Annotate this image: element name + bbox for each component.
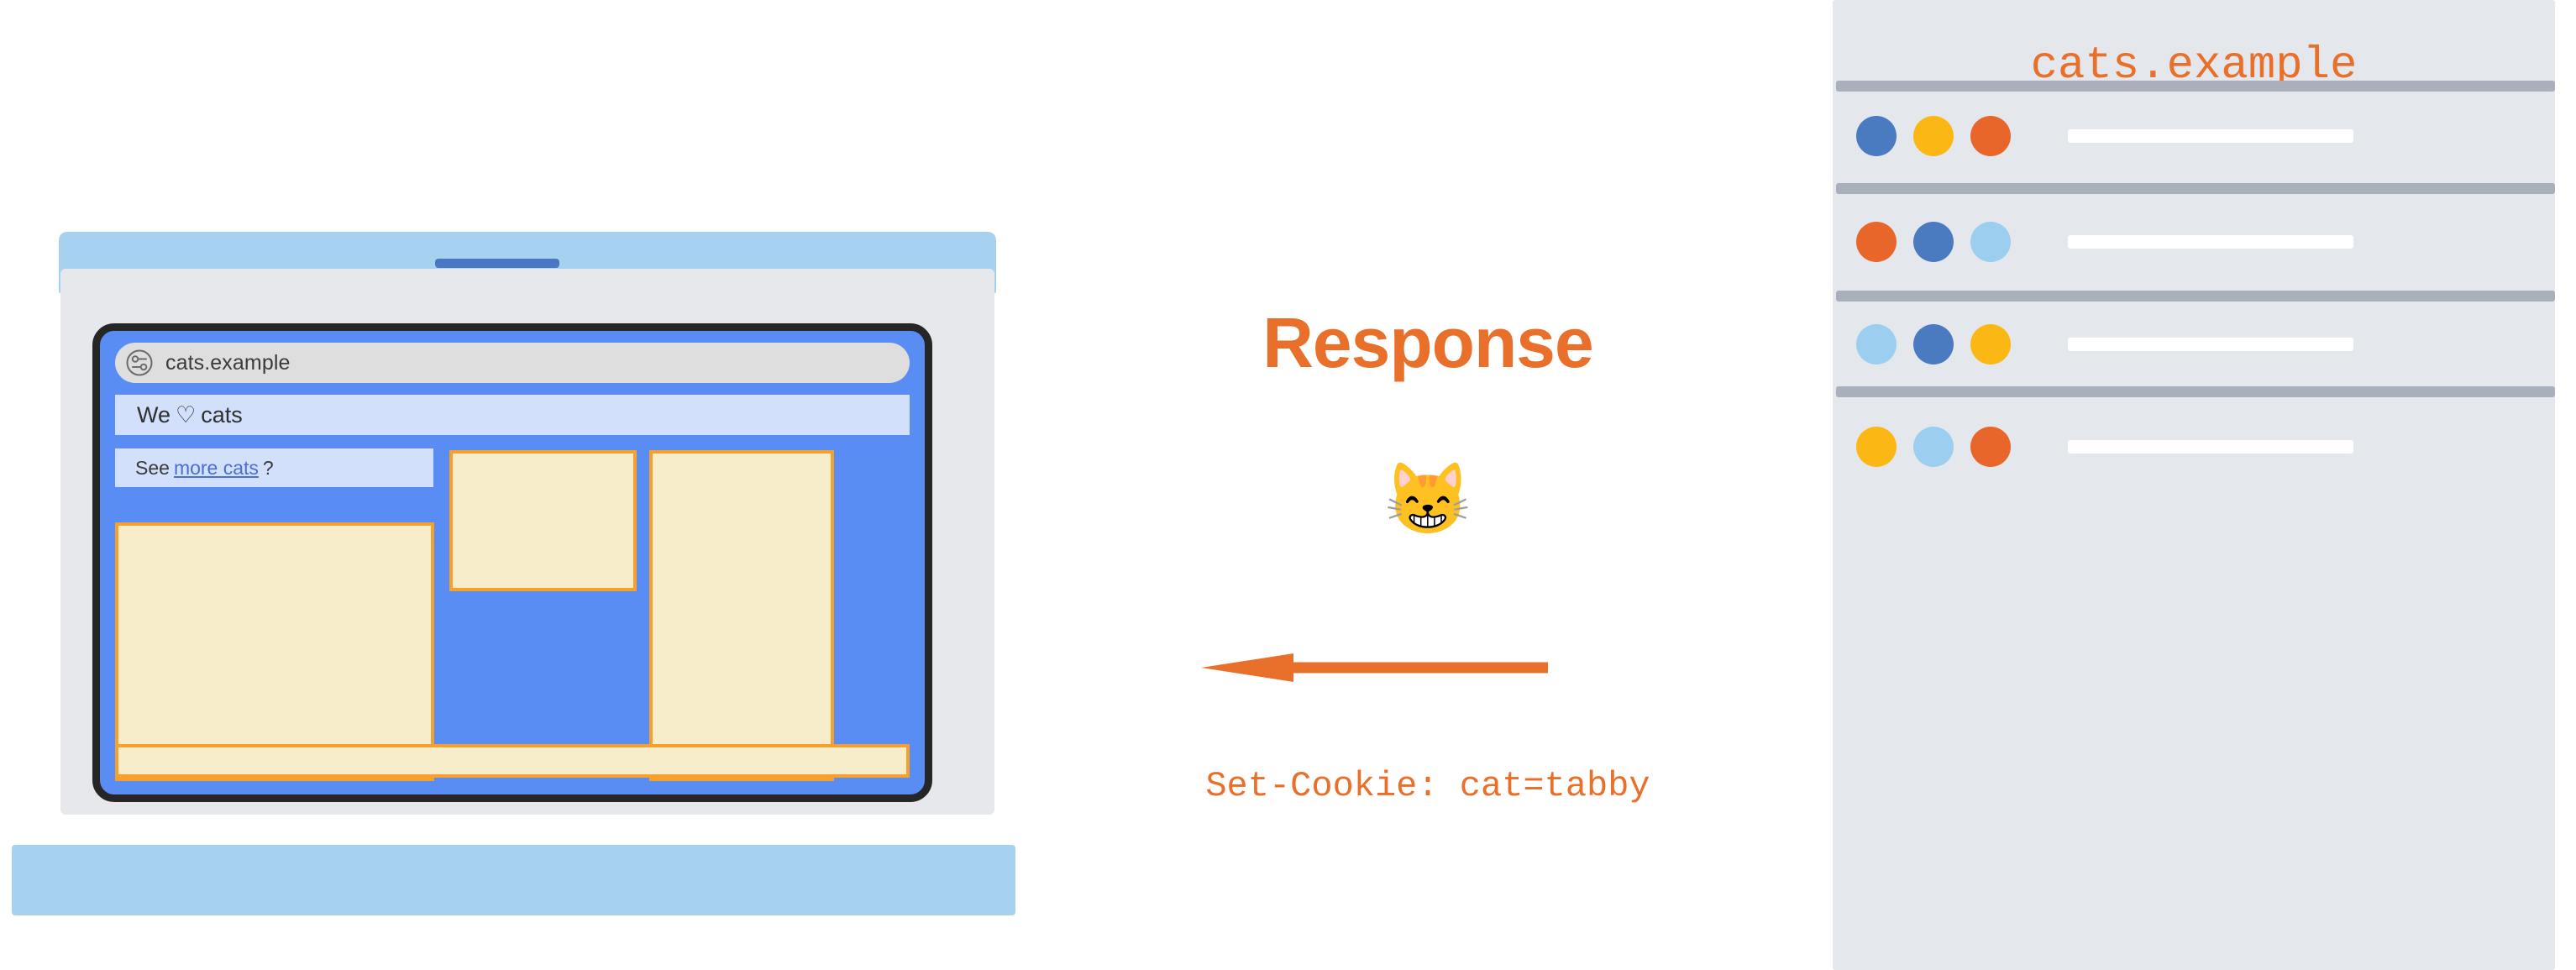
- server-row-line: [2068, 440, 2353, 454]
- server-divider: [1836, 386, 2555, 397]
- content-block-top: [449, 450, 637, 591]
- tune-icon[interactable]: [125, 349, 154, 377]
- server-divider: [1836, 183, 2555, 194]
- server-illustration: cats.example: [1823, 0, 2576, 970]
- server-dot: [1913, 427, 1954, 467]
- page-heading: We ♡ cats: [115, 395, 910, 435]
- server-dot: [1856, 324, 1897, 364]
- laptop-illustration: cats.example We ♡ cats See more cats ?: [0, 0, 1092, 970]
- response-arrow-left: [1201, 638, 1554, 697]
- see-more-cats-line: See more cats ?: [115, 448, 433, 487]
- laptop-base-band: [12, 845, 1015, 915]
- server-divider: [1836, 291, 2555, 301]
- server-dot: [1970, 427, 2011, 467]
- content-block-side: [649, 450, 834, 781]
- set-cookie-header: Set-Cookie: cat=tabby: [1092, 766, 1764, 806]
- browser-window: cats.example We ♡ cats See more cats ?: [92, 323, 932, 802]
- page-heading-prefix: We: [137, 402, 171, 428]
- link-prefix: See: [135, 457, 170, 480]
- grinning-cat-face-icon: 😸: [1092, 464, 1764, 534]
- content-block-footer: [115, 744, 910, 778]
- url-bar[interactable]: cats.example: [115, 343, 910, 383]
- server-panel: cats.example: [1833, 0, 2555, 970]
- server-dot: [1970, 222, 2011, 262]
- server-dot: [1970, 324, 2011, 364]
- server-dot: [1913, 116, 1954, 156]
- server-row: [1856, 319, 2545, 370]
- server-dot: [1856, 222, 1897, 262]
- url-text: cats.example: [165, 351, 291, 375]
- response-title: Response: [1092, 302, 1764, 384]
- server-row: [1856, 111, 2545, 161]
- server-dot: [1856, 116, 1897, 156]
- content-block-main: [115, 522, 434, 781]
- server-dot: [1913, 222, 1954, 262]
- server-divider: [1836, 81, 2555, 92]
- page-heading-suffix: cats: [201, 402, 243, 428]
- link-suffix: ?: [263, 457, 274, 480]
- response-illustration: Response 😸 Set-Cookie: cat=tabby: [1092, 0, 1764, 970]
- server-dot: [1970, 116, 2011, 156]
- laptop-hinge-mark: [435, 259, 559, 268]
- page-content: See more cats ?: [115, 448, 910, 781]
- server-row: [1856, 217, 2545, 267]
- more-cats-link[interactable]: more cats: [174, 457, 259, 480]
- server-row: [1856, 422, 2545, 472]
- heart-icon: ♡: [176, 402, 196, 428]
- server-dot: [1913, 324, 1954, 364]
- server-row-line: [2068, 235, 2353, 249]
- server-dot: [1856, 427, 1897, 467]
- server-row-line: [2068, 338, 2353, 351]
- server-row-line: [2068, 129, 2353, 143]
